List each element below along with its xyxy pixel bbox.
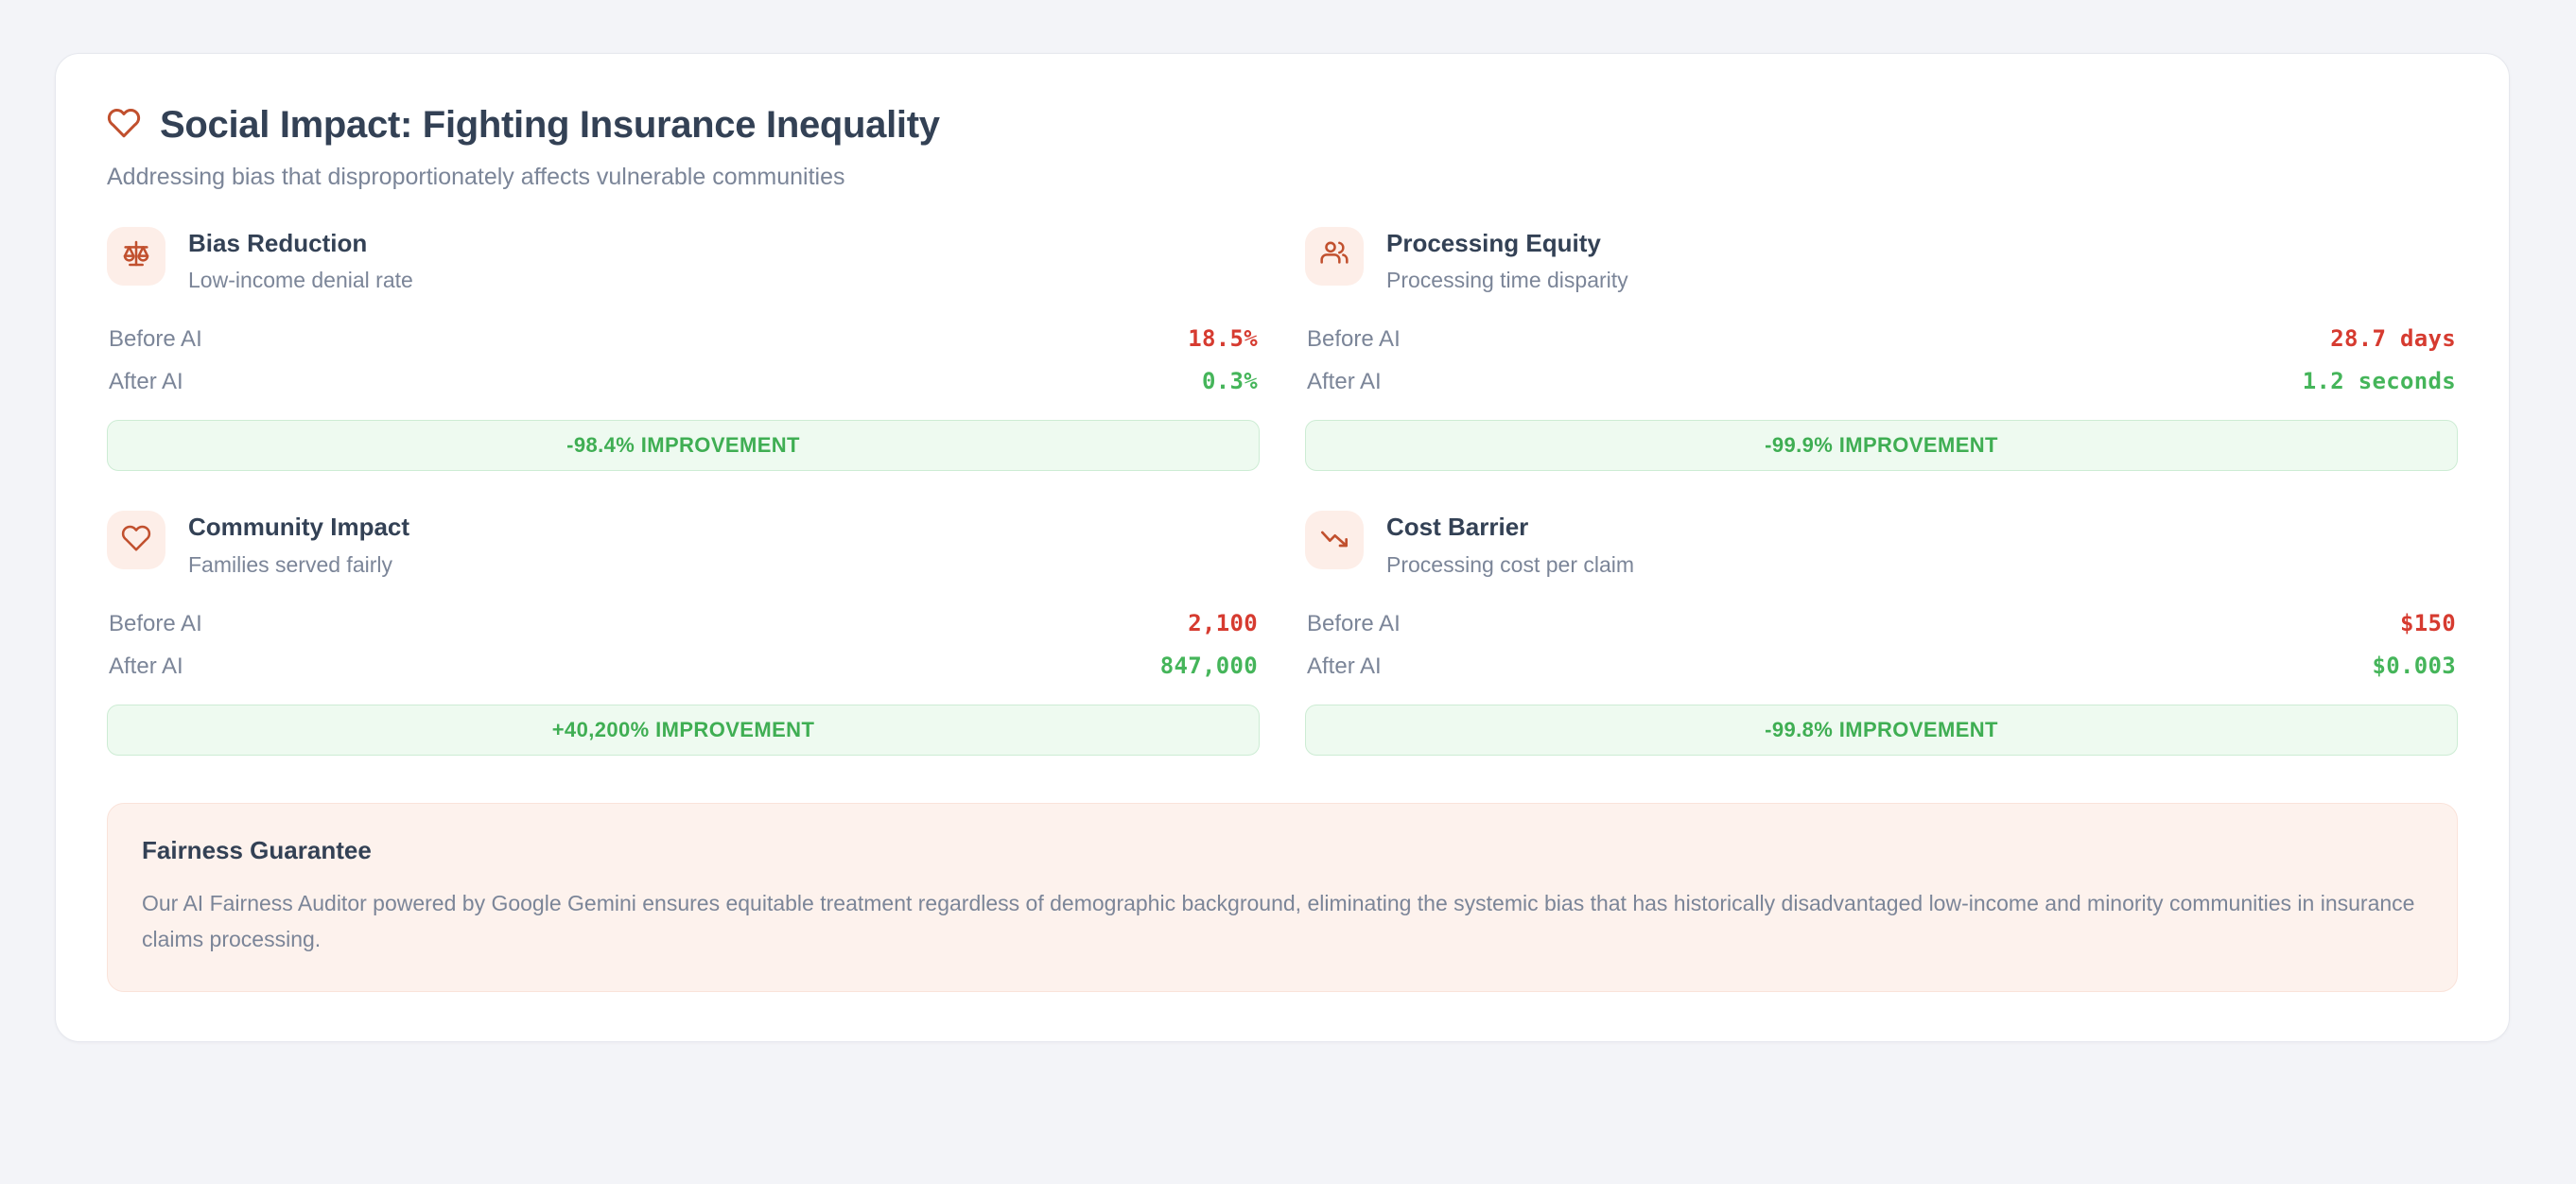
metric-card-bias-reduction: Bias Reduction Low-income denial rate Be… <box>107 227 1260 472</box>
metric-header: Bias Reduction Low-income denial rate <box>107 227 1260 294</box>
improvement-badge: +40,200% IMPROVEMENT <box>107 705 1260 756</box>
panel-header: Social Impact: Fighting Insurance Inequa… <box>107 103 2458 193</box>
metric-row-after: After AI 1.2 seconds <box>1305 360 2458 403</box>
metric-description: Processing cost per claim <box>1386 551 1634 579</box>
metric-value-before: $150 <box>2400 610 2456 636</box>
metric-row-label: After AI <box>1307 653 1382 680</box>
metric-description: Low-income denial rate <box>188 267 413 294</box>
metric-icon-container <box>1305 511 1364 569</box>
metric-header: Processing Equity Processing time dispar… <box>1305 227 2458 294</box>
metric-row-label: Before AI <box>1307 611 1401 637</box>
metric-row-after: After AI $0.003 <box>1305 645 2458 688</box>
metric-value-before: 28.7 days <box>2330 325 2456 352</box>
metric-title: Cost Barrier <box>1386 513 1634 542</box>
fairness-guarantee-box: Fairness Guarantee Our AI Fairness Audit… <box>107 803 2458 992</box>
metrics-grid: Bias Reduction Low-income denial rate Be… <box>107 227 2458 757</box>
metric-value-before: 2,100 <box>1188 610 1258 636</box>
page-root: Social Impact: Fighting Insurance Inequa… <box>0 0 2576 1184</box>
metric-description: Processing time disparity <box>1386 267 1628 294</box>
metric-icon-container <box>107 227 165 286</box>
metric-value-before: 18.5% <box>1188 325 1258 352</box>
metric-row-before: Before AI $150 <box>1305 602 2458 645</box>
title-row: Social Impact: Fighting Insurance Inequa… <box>107 103 2458 147</box>
social-impact-panel: Social Impact: Fighting Insurance Inequa… <box>55 53 2510 1042</box>
metric-value-after: 0.3% <box>1202 368 1258 394</box>
metric-header: Community Impact Families served fairly <box>107 511 1260 578</box>
users-icon <box>1319 238 1349 273</box>
metric-header-text: Cost Barrier Processing cost per claim <box>1386 511 1634 578</box>
metric-icon-container <box>1305 227 1364 286</box>
improvement-badge: -99.9% IMPROVEMENT <box>1305 420 2458 471</box>
improvement-badge: -99.8% IMPROVEMENT <box>1305 705 2458 756</box>
page-title: Social Impact: Fighting Insurance Inequa… <box>160 103 940 147</box>
trending-down-icon <box>1319 523 1349 558</box>
metric-row-label: Before AI <box>109 326 202 353</box>
metric-header-text: Community Impact Families served fairly <box>188 511 409 578</box>
metric-header-text: Bias Reduction Low-income denial rate <box>188 227 413 294</box>
metric-title: Processing Equity <box>1386 229 1628 258</box>
metric-title: Bias Reduction <box>188 229 413 258</box>
metric-row-label: Before AI <box>1307 326 1401 353</box>
heart-icon <box>121 523 151 558</box>
metric-row-after: After AI 847,000 <box>107 645 1260 688</box>
heart-icon <box>107 106 141 145</box>
metric-title: Community Impact <box>188 513 409 542</box>
metric-card-cost-barrier: Cost Barrier Processing cost per claim B… <box>1305 511 2458 756</box>
scales-balance-icon <box>121 238 151 273</box>
metric-value-after: $0.003 <box>2373 653 2457 679</box>
metric-row-before: Before AI 2,100 <box>107 602 1260 645</box>
fairness-guarantee-title: Fairness Guarantee <box>142 836 2423 865</box>
metric-card-community-impact: Community Impact Families served fairly … <box>107 511 1260 756</box>
metric-row-after: After AI 0.3% <box>107 360 1260 403</box>
metric-row-before: Before AI 18.5% <box>107 318 1260 360</box>
improvement-badge: -98.4% IMPROVEMENT <box>107 420 1260 471</box>
metric-description: Families served fairly <box>188 551 409 579</box>
metric-value-after: 847,000 <box>1160 653 1258 679</box>
metric-row-label: After AI <box>109 369 183 395</box>
metric-value-after: 1.2 seconds <box>2303 368 2456 394</box>
page-subtitle: Addressing bias that disproportionately … <box>107 162 2458 193</box>
metric-header-text: Processing Equity Processing time dispar… <box>1386 227 1628 294</box>
metric-icon-container <box>107 511 165 569</box>
fairness-guarantee-body: Our AI Fairness Auditor powered by Googl… <box>142 886 2423 957</box>
metric-row-label: Before AI <box>109 611 202 637</box>
metric-card-processing-equity: Processing Equity Processing time dispar… <box>1305 227 2458 472</box>
metric-row-label: After AI <box>109 653 183 680</box>
metric-header: Cost Barrier Processing cost per claim <box>1305 511 2458 578</box>
metric-row-before: Before AI 28.7 days <box>1305 318 2458 360</box>
metric-row-label: After AI <box>1307 369 1382 395</box>
